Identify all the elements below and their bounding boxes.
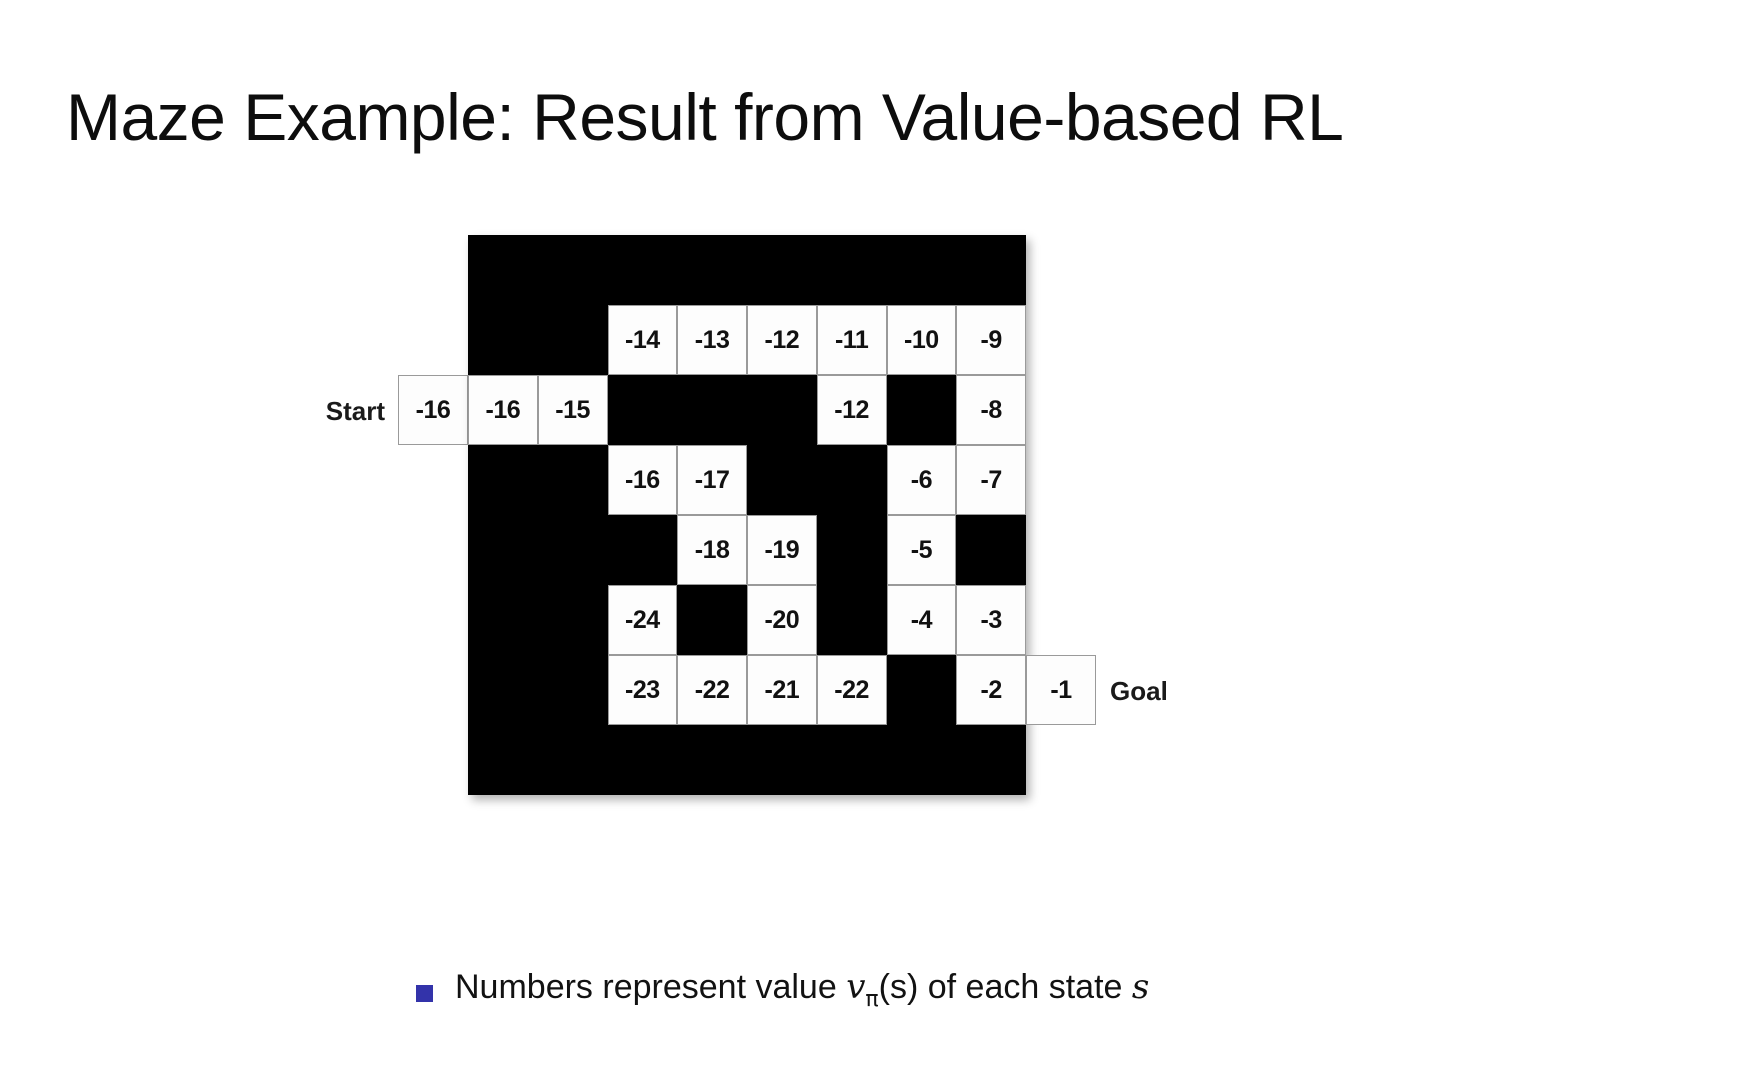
- maze-wall-cell: [956, 235, 1026, 305]
- goal-label: Goal: [1110, 676, 1168, 707]
- maze-figure: Start -16 -14-13-12-11-10-9-16-15-12-8-1…: [0, 210, 1744, 850]
- maze-value-cell: -21: [747, 655, 817, 725]
- maze-wall-cell: [817, 235, 887, 305]
- caption: Numbers represent value vπ(s) of each st…: [416, 966, 1149, 1021]
- maze-wall-cell: [608, 515, 678, 585]
- maze-value-cell: -2: [956, 655, 1026, 725]
- maze-wall-cell: [677, 725, 747, 795]
- maze-value-cell: -23: [608, 655, 678, 725]
- maze-wall-cell: [747, 445, 817, 515]
- maze-value-cell: -16: [608, 445, 678, 515]
- maze-wall-cell: [956, 515, 1026, 585]
- maze-row: [468, 235, 1026, 305]
- value-function-symbol: v: [846, 967, 865, 1007]
- maze-wall-cell: [677, 375, 747, 445]
- start-label: Start: [285, 396, 385, 427]
- maze-value-cell: -20: [747, 585, 817, 655]
- maze-value-cell: -12: [747, 305, 817, 375]
- maze-row: -23-22-21-22-2: [468, 655, 1026, 725]
- maze-wall-cell: [468, 585, 538, 655]
- maze-wall-cell: [468, 235, 538, 305]
- maze-value-cell: -12: [817, 375, 887, 445]
- maze-wall-cell: [538, 305, 608, 375]
- maze-value-cell: -4: [887, 585, 957, 655]
- maze-value-cell: -18: [677, 515, 747, 585]
- policy-subscript: π: [865, 987, 878, 1012]
- maze-goal-cell: -1: [1026, 655, 1096, 725]
- maze-wall-cell: [817, 725, 887, 795]
- maze-value-cell: -22: [817, 655, 887, 725]
- state-argument: (s): [879, 968, 919, 1006]
- bullet-square-icon: [416, 985, 433, 1002]
- maze-value-cell: -17: [677, 445, 747, 515]
- maze-value-cell: -7: [956, 445, 1026, 515]
- maze-row: -14-13-12-11-10-9: [468, 305, 1026, 375]
- maze-wall-cell: [538, 655, 608, 725]
- maze-row: [468, 725, 1026, 795]
- maze-value-cell: -16: [468, 375, 538, 445]
- maze-wall-cell: [538, 235, 608, 305]
- maze-wall-cell: [887, 655, 957, 725]
- maze-wall-cell: [468, 725, 538, 795]
- maze-wall-cell: [538, 585, 608, 655]
- maze-wall-cell: [677, 235, 747, 305]
- maze-wall-cell: [468, 655, 538, 725]
- maze-wall-cell: [538, 445, 608, 515]
- maze-value-cell: -10: [887, 305, 957, 375]
- page-title: Maze Example: Result from Value-based RL: [66, 74, 1686, 160]
- maze-board: -14-13-12-11-10-9-16-15-12-8-16-17-6-7-1…: [468, 235, 1026, 795]
- caption-text: Numbers represent value vπ(s) of each st…: [455, 966, 1149, 1021]
- maze-wall-cell: [468, 515, 538, 585]
- maze-wall-cell: [468, 445, 538, 515]
- maze-wall-cell: [747, 725, 817, 795]
- maze-value-cell: -5: [887, 515, 957, 585]
- maze-wall-cell: [608, 235, 678, 305]
- maze-value-cell: -3: [956, 585, 1026, 655]
- maze-value-cell: -8: [956, 375, 1026, 445]
- maze-wall-cell: [817, 515, 887, 585]
- maze-wall-cell: [747, 375, 817, 445]
- maze-wall-cell: [817, 585, 887, 655]
- maze-row: -24-20-4-3: [468, 585, 1026, 655]
- maze-wall-cell: [817, 445, 887, 515]
- maze-wall-cell: [956, 725, 1026, 795]
- maze-value-cell: -6: [887, 445, 957, 515]
- maze-wall-cell: [538, 515, 608, 585]
- maze-wall-cell: [468, 305, 538, 375]
- maze-value-cell: -14: [608, 305, 678, 375]
- maze-value-cell: -19: [747, 515, 817, 585]
- maze-wall-cell: [887, 375, 957, 445]
- maze-wall-cell: [608, 725, 678, 795]
- maze-row: -16-17-6-7: [468, 445, 1026, 515]
- maze-value-cell: -13: [677, 305, 747, 375]
- maze-wall-cell: [747, 235, 817, 305]
- maze-row: -16-15-12-8: [468, 375, 1026, 445]
- maze-wall-cell: [538, 725, 608, 795]
- maze-value-cell: -11: [817, 305, 887, 375]
- maze-wall-cell: [608, 375, 678, 445]
- state-symbol: s: [1132, 967, 1149, 1007]
- maze-wall-cell: [887, 725, 957, 795]
- maze-start-cell: -16: [398, 375, 468, 445]
- maze-value-cell: -9: [956, 305, 1026, 375]
- maze-wall-cell: [887, 235, 957, 305]
- maze-value-cell: -24: [608, 585, 678, 655]
- maze-wall-cell: [677, 585, 747, 655]
- maze-value-cell: -15: [538, 375, 608, 445]
- maze-row: -18-19-5: [468, 515, 1026, 585]
- maze-value-cell: -22: [677, 655, 747, 725]
